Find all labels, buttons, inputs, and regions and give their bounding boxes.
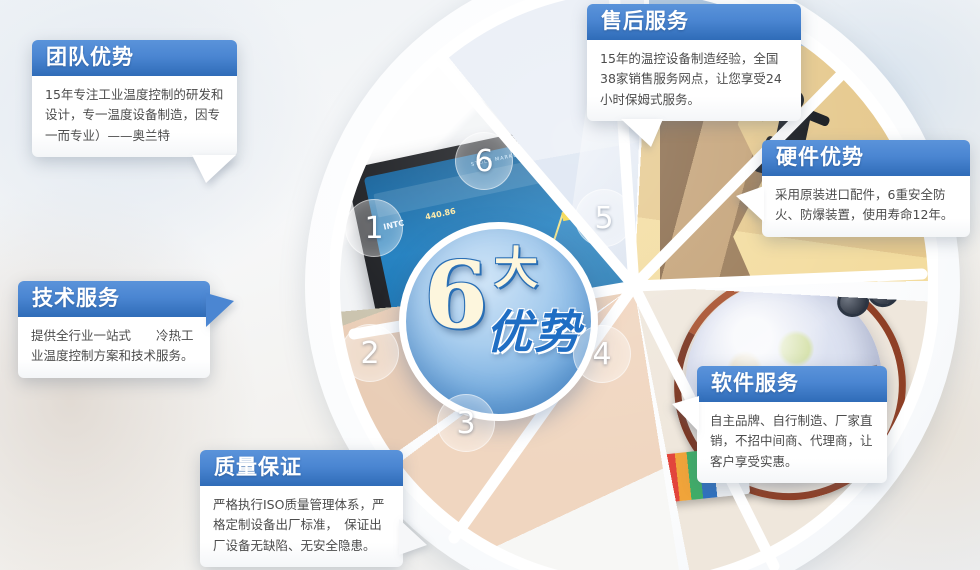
card-tail-team [192,155,236,183]
card-tail-technical [206,293,234,327]
segment-number-2[interactable]: 2 [341,324,399,382]
card-body-team: 15年专注工业温度控制的研发和设计，专一温度设备制造，因专一而专业）——奥兰特 [32,76,237,157]
segment-number-1[interactable]: 1 [345,199,403,257]
infographic-root: STOCK MARKET DATA INTC 440.86 [0,0,980,570]
card-title-hardware: 硬件优势 [762,140,970,176]
card-body-hardware: 采用原装进口配件，6重安全防火、防爆装置，使用寿命12年。 [762,176,970,237]
card-title-after-sales: 售后服务 [587,4,801,40]
card-body-after-sales: 15年的温控设备制造经验，全国38家销售服务网点，让您享受24小时保姆式服务。 [587,40,801,121]
center-word: 优势 [486,307,582,357]
callout-card-quality[interactable]: 质量保证 严格执行ISO质量管理体系，严格定制设备出厂标准， 保证出厂设备无缺陷… [200,450,403,567]
segment-number-6[interactable]: 6 [455,132,513,190]
callout-card-after-sales[interactable]: 售后服务 15年的温控设备制造经验，全国38家销售服务网点，让您享受24小时保姆… [587,4,801,121]
card-body-technical: 提供全行业一站式 冷热工业温度控制方案和技术服务。 [18,317,210,378]
card-body-software: 自主品牌、自行制造、厂家直销，不招中间商、代理商，让客户享受实惠。 [697,402,887,483]
card-title-team: 团队优势 [32,40,237,76]
callout-card-software[interactable]: 软件服务 自主品牌、自行制造、厂家直销，不招中间商、代理商，让客户享受实惠。 [697,366,887,483]
callout-card-hardware[interactable]: 硬件优势 采用原装进口配件，6重安全防火、防爆装置，使用寿命12年。 [762,140,970,237]
card-title-quality: 质量保证 [200,450,403,486]
segment-number-4[interactable]: 4 [573,325,631,383]
center-badge[interactable]: 6 大 优势 [399,222,598,421]
card-tail-quality [399,519,427,555]
card-tail-software [672,396,699,432]
center-number: 6 [424,249,488,341]
center-unit: 大 [494,247,538,291]
card-tail-hardware [736,186,764,222]
segment-number-5[interactable]: 5 [575,189,633,247]
card-body-quality: 严格执行ISO质量管理体系，严格定制设备出厂标准， 保证出厂设备无缺陷、无安全隐… [200,486,403,567]
callout-card-team[interactable]: 团队优势 15年专注工业温度控制的研发和设计，专一温度设备制造，因专一而专业）—… [32,40,237,157]
card-title-technical: 技术服务 [18,281,210,317]
card-title-software: 软件服务 [697,366,887,402]
callout-card-technical[interactable]: 技术服务 提供全行业一站式 冷热工业温度控制方案和技术服务。 [18,281,210,378]
segment-number-3[interactable]: 3 [437,394,495,452]
card-tail-after-sales [621,119,663,147]
